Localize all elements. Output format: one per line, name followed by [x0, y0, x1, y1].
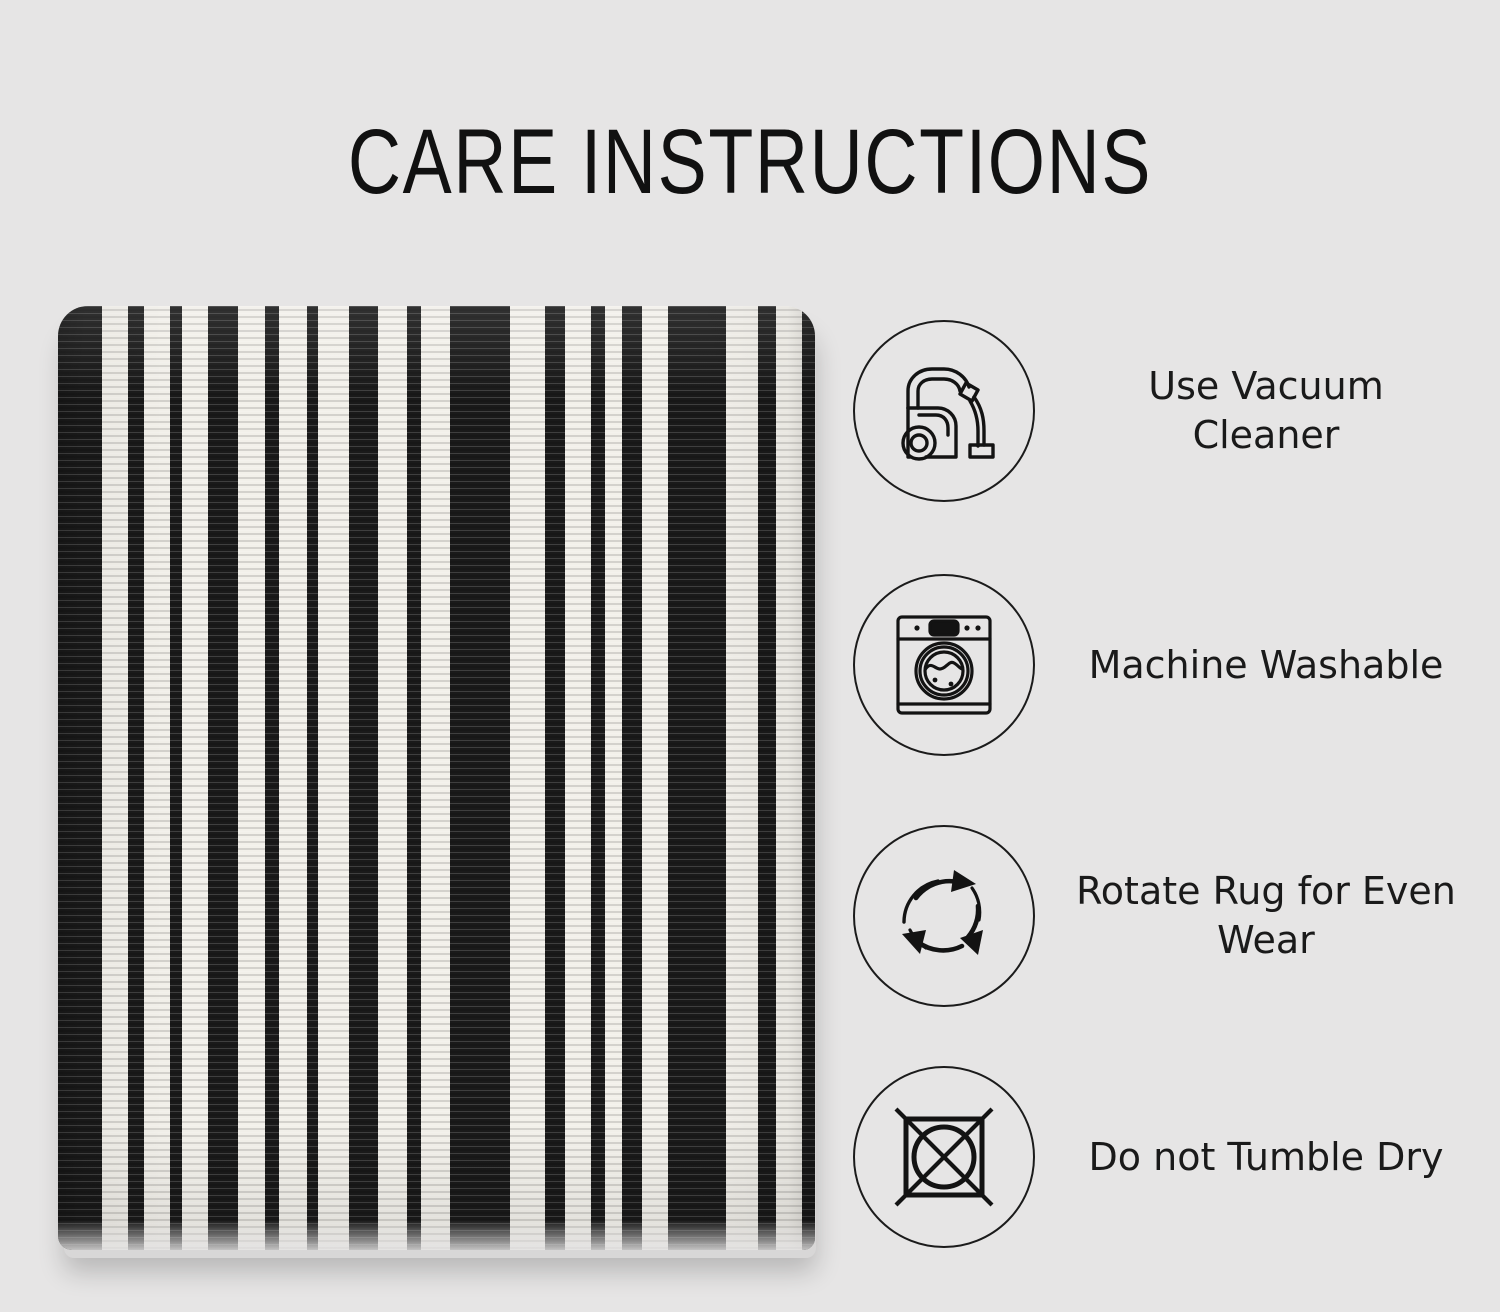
- instruction-label-machine-washable: Machine Washable: [1069, 641, 1473, 690]
- instruction-label-vacuum: Use Vacuum Cleaner: [1069, 362, 1473, 459]
- rug-stripe: [279, 306, 307, 1250]
- rug-stripe: [668, 306, 726, 1250]
- rug-stripe: [238, 306, 265, 1250]
- icon-circle-machine-washable: [853, 574, 1035, 756]
- rug-stripe: [605, 306, 622, 1250]
- rug-stripe: [450, 306, 510, 1250]
- rug-stripe: [349, 306, 378, 1250]
- care-instructions-page: CARE INSTRUCTIONS: [0, 0, 1500, 1312]
- rug-stripe: [565, 306, 591, 1250]
- rug-stripe: [407, 306, 421, 1250]
- rug-stripe-pattern: [58, 306, 815, 1250]
- rug-stripe: [318, 306, 349, 1250]
- product-image: [58, 306, 818, 1254]
- rug-stripe: [208, 306, 238, 1250]
- instruction-label-no-tumble-dry: Do not Tumble Dry: [1069, 1133, 1473, 1182]
- rug-stripe: [307, 306, 318, 1250]
- rug-stripe: [170, 306, 182, 1250]
- instruction-row-no-tumble-dry: Do not Tumble Dry: [853, 1064, 1473, 1250]
- rug-stripe: [726, 306, 758, 1250]
- instruction-label-rotate: Rotate Rug for Even Wear: [1069, 867, 1473, 964]
- rug-stripe: [58, 306, 102, 1250]
- rotate-arrows-icon: [886, 858, 1002, 974]
- rug-stripe: [591, 306, 605, 1250]
- rug-stripe: [622, 306, 642, 1250]
- rug-stripe: [421, 306, 450, 1250]
- icon-circle-rotate: [853, 825, 1035, 1007]
- vacuum-cleaner-icon: [886, 353, 1002, 469]
- rug-stripe: [182, 306, 208, 1250]
- rug-stripe: [802, 306, 815, 1250]
- rug-stripe: [128, 306, 144, 1250]
- instruction-row-rotate: Rotate Rug for Even Wear: [853, 823, 1473, 1009]
- rug-stripe: [378, 306, 407, 1250]
- rug-stripe: [265, 306, 279, 1250]
- rug-stripe: [642, 306, 668, 1250]
- washing-machine-icon: [888, 609, 1000, 721]
- icon-circle-no-tumble-dry: [853, 1066, 1035, 1248]
- instruction-row-machine-washable: Machine Washable: [853, 572, 1473, 758]
- icon-circle-vacuum: [853, 320, 1035, 502]
- page-title: CARE INSTRUCTIONS: [150, 116, 1350, 208]
- rug-stripe: [510, 306, 545, 1250]
- instruction-row-vacuum: Use Vacuum Cleaner: [853, 318, 1473, 504]
- rug-stripe: [758, 306, 776, 1250]
- rug-stripe: [776, 306, 802, 1250]
- rug-stripe: [102, 306, 128, 1250]
- do-not-tumble-dry-icon: [888, 1101, 1000, 1213]
- rug-stripe: [545, 306, 565, 1250]
- rug-stripe: [144, 306, 170, 1250]
- striped-rug-photo: [58, 306, 815, 1250]
